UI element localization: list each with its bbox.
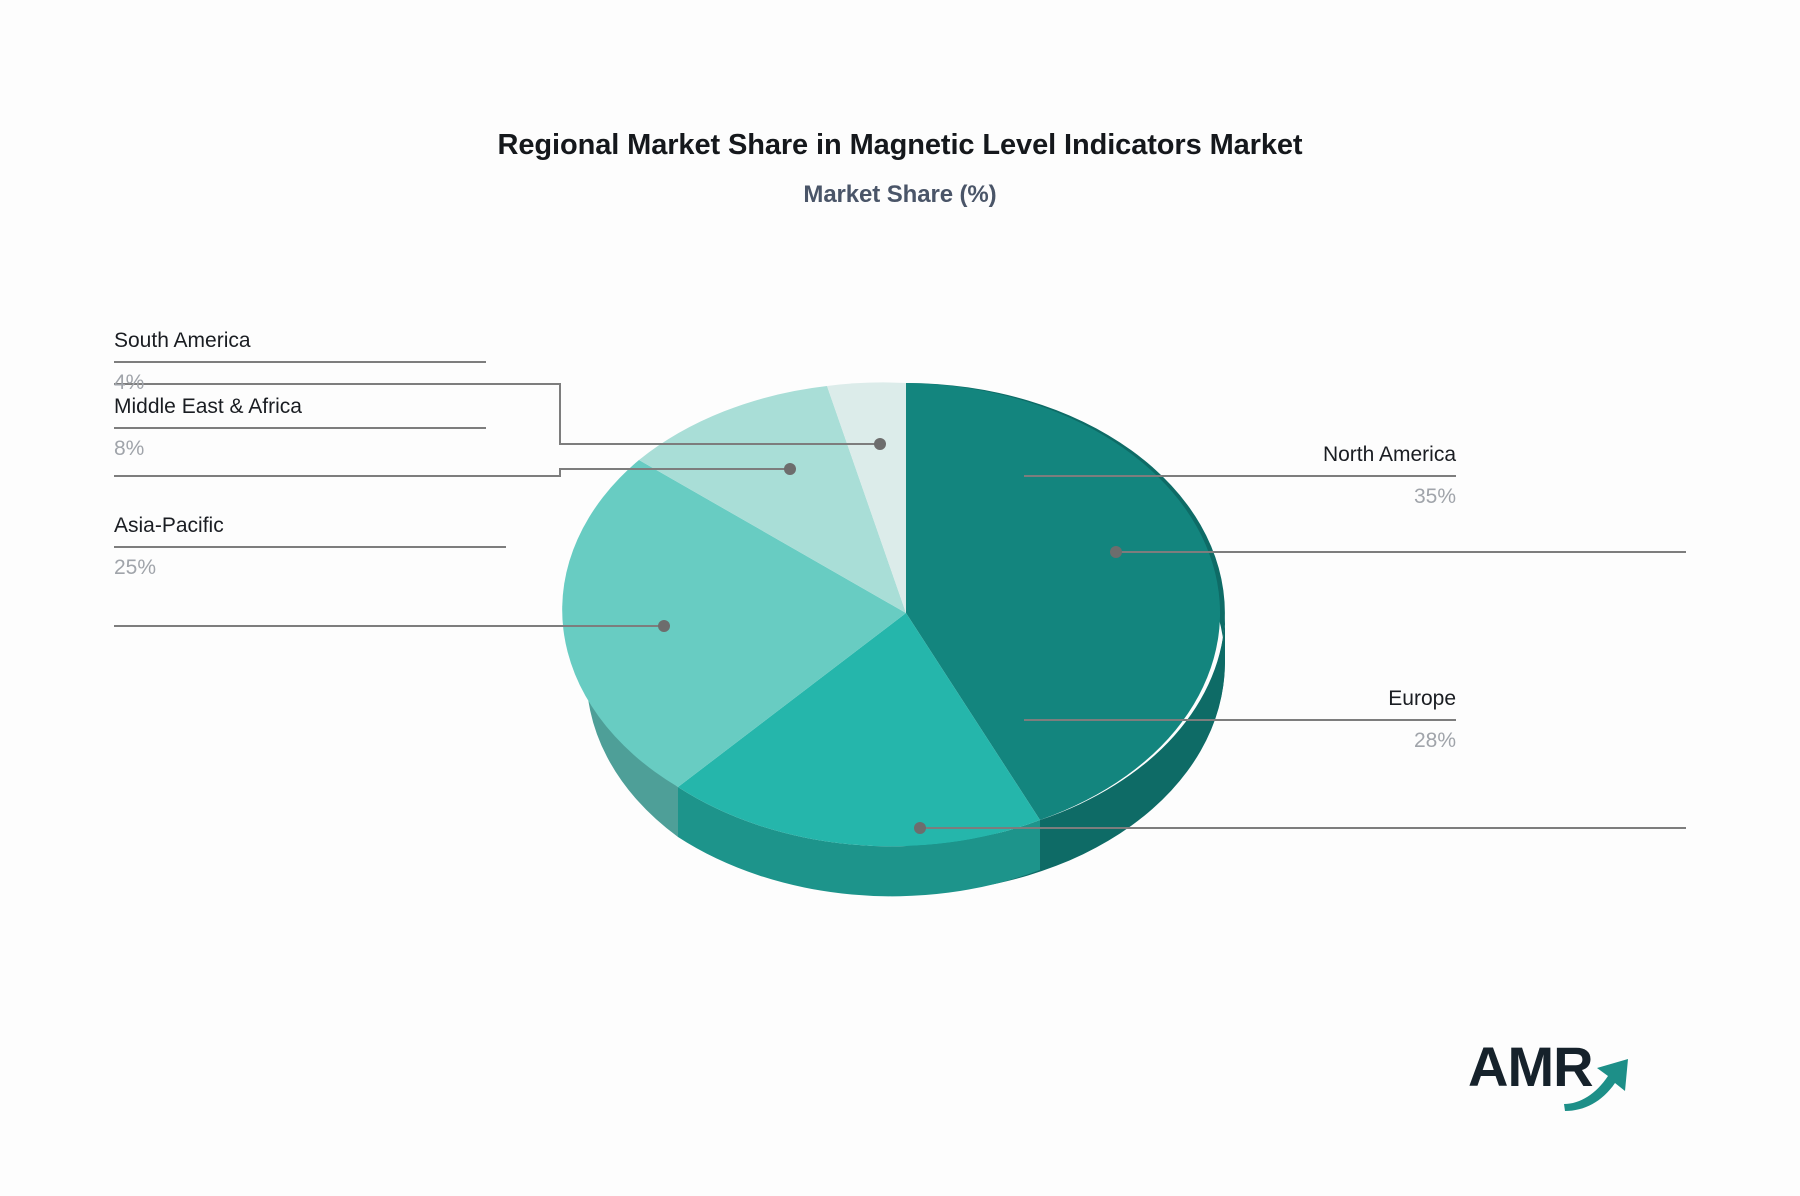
- amr-logo: AMR: [1468, 1032, 1648, 1112]
- pie-chart-area: South America 4% Middle East & Africa 8%…: [0, 0, 1800, 1196]
- callout-south-america[interactable]: South America 4%: [114, 328, 486, 397]
- leader-dot-europe: [914, 822, 926, 834]
- callout-label-south-america: South America: [114, 328, 486, 361]
- callout-label-north-america: North America: [1024, 442, 1456, 475]
- callout-value-asia-pacific: 25%: [114, 548, 506, 581]
- callout-middle-east-africa[interactable]: Middle East & Africa 8%: [114, 394, 486, 463]
- chart-canvas: Regional Market Share in Magnetic Level …: [0, 0, 1800, 1196]
- amr-logo-svg: AMR: [1468, 1032, 1648, 1112]
- callout-north-america[interactable]: North America 35%: [1024, 442, 1456, 511]
- callout-value-south-america: 4%: [114, 363, 486, 396]
- callout-europe[interactable]: Europe 28%: [1024, 686, 1456, 755]
- leader-dot-middle-east-africa: [784, 463, 796, 475]
- callout-value-north-america: 35%: [1024, 477, 1456, 510]
- callout-label-middle-east-africa: Middle East & Africa: [114, 394, 486, 427]
- amr-logo-wordmark: AMR: [1468, 1035, 1593, 1098]
- callout-value-middle-east-africa: 8%: [114, 429, 486, 462]
- leader-dot-north-america: [1110, 546, 1122, 558]
- callout-value-europe: 28%: [1024, 721, 1456, 754]
- leader-dot-south-america: [874, 438, 886, 450]
- callout-label-asia-pacific: Asia-Pacific: [114, 513, 506, 546]
- callout-label-europe: Europe: [1024, 686, 1456, 719]
- leader-dot-asia-pacific: [658, 620, 670, 632]
- pie-chart-svg: [0, 0, 1800, 1196]
- callout-asia-pacific[interactable]: Asia-Pacific 25%: [114, 513, 506, 582]
